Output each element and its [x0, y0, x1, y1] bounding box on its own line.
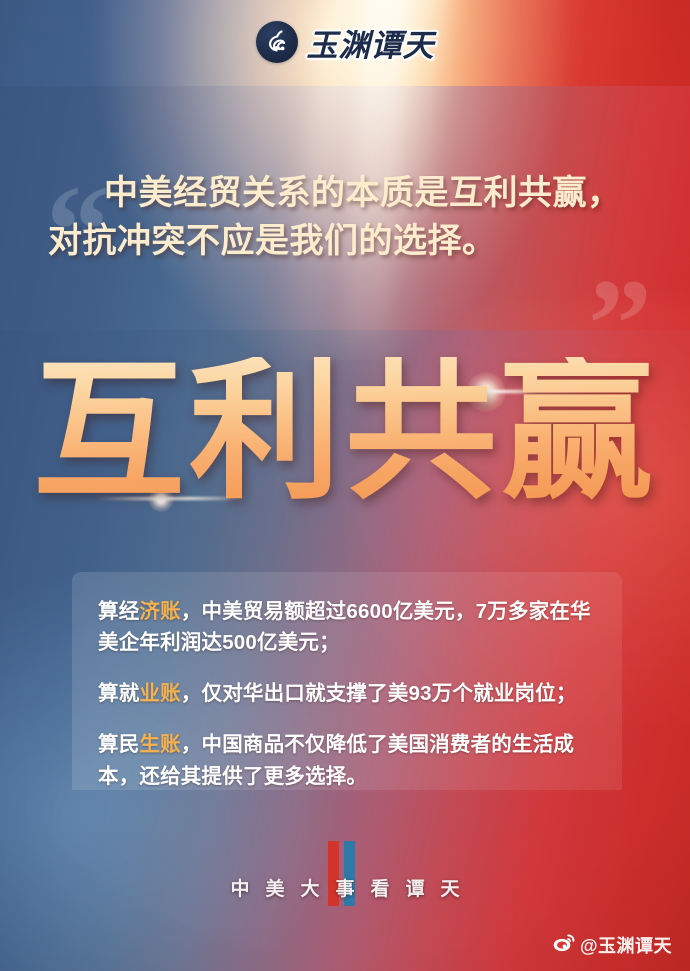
headline-block: 互利共赢 — [0, 345, 690, 520]
fact-paragraph: 算经济账，中美贸易额超过6600亿美元，7万多家在华美企年利润达500亿美元； — [98, 596, 596, 658]
fact-rest: ，仅对华出口就支撑了美93万个就业岗位； — [181, 682, 577, 705]
fact-paragraph: 算民生账，中国商品不仅降低了美国消费者的生活成本，还给其提供了更多选择。 — [98, 729, 596, 791]
poster-canvas: 玉渊谭天 “ ” 中美经贸关系的本质是互利共赢，对抗冲突不应是我们的选择。 互利… — [0, 0, 690, 971]
weibo-icon — [553, 934, 575, 957]
brand-header: 玉渊谭天 — [0, 14, 690, 70]
quote-text: 中美经贸关系的本质是互利共赢，对抗冲突不应是我们的选择。 — [48, 170, 644, 267]
facts-panel: 算经济账，中美贸易额超过6600亿美元，7万多家在华美企年利润达500亿美元； … — [72, 572, 622, 790]
footer-tagline: 中美大事看谭天 — [0, 874, 690, 901]
fact-lead-plain: 算民 — [98, 733, 139, 756]
weibo-watermark[interactable]: @玉渊谭天 — [553, 932, 672, 958]
headline-text: 互利共赢 — [33, 357, 657, 509]
fact-paragraph: 算就业账，仅对华出口就支撑了美93万个就业岗位； — [98, 678, 596, 709]
weibo-brand-circle-icon — [256, 21, 298, 63]
quote-block: “ ” 中美经贸关系的本质是互利共赢，对抗冲突不应是我们的选择。 — [0, 170, 690, 330]
fact-lead-plain: 算经 — [98, 600, 139, 623]
weibo-handle: @玉渊谭天 — [580, 932, 672, 958]
brand-wordmark: 玉渊谭天 — [307, 20, 435, 65]
fact-lead-highlight: 业账 — [139, 682, 180, 705]
fact-lead-plain: 算就 — [98, 682, 139, 705]
fact-lead-highlight: 济账 — [139, 600, 180, 623]
fact-lead-highlight: 生账 — [139, 733, 180, 756]
